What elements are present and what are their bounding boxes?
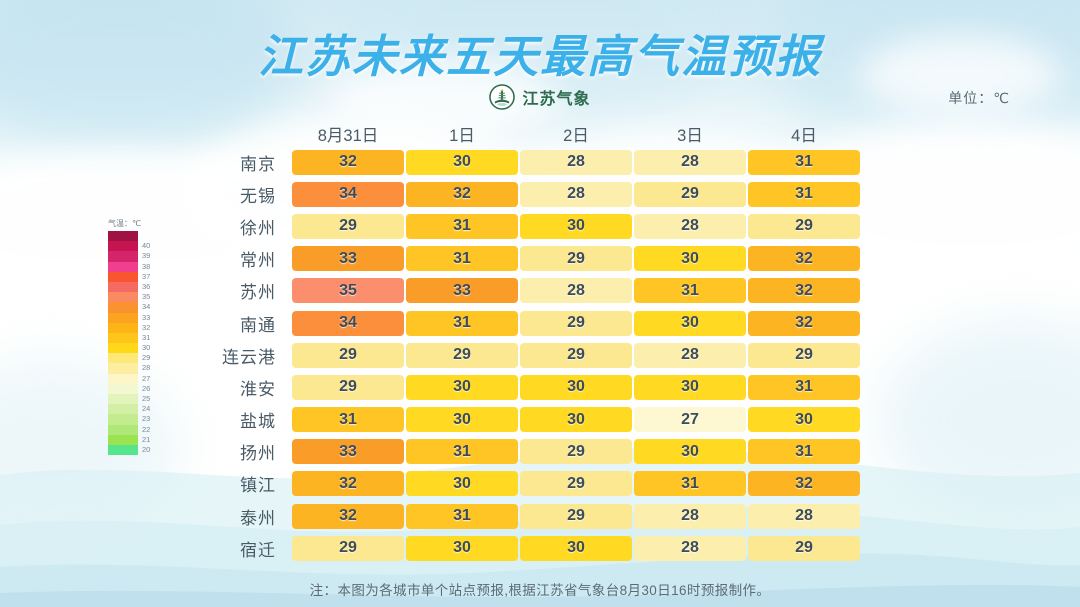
legend-label: 31 xyxy=(142,333,150,343)
legend-swatch xyxy=(108,343,138,353)
row-city-label: 盐城 xyxy=(196,407,292,432)
temperature-cell: 32 xyxy=(406,182,518,207)
table-row: 南通3431293032 xyxy=(0,307,1080,339)
legend-swatch xyxy=(108,272,138,282)
row-city-label: 镇江 xyxy=(196,471,292,496)
weather-bureau-emblem-icon xyxy=(489,84,515,110)
temperature-cell: 31 xyxy=(406,214,518,239)
legend-stop: 39 xyxy=(108,251,150,261)
legend-stop: 38 xyxy=(108,262,150,272)
legend-stop: 35 xyxy=(108,292,150,302)
table-row: 宿迁2930302829 xyxy=(0,532,1080,564)
column-header-day: 1日 xyxy=(406,122,518,146)
legend-stop: 32 xyxy=(108,323,150,333)
legend-stop: 22 xyxy=(108,425,150,435)
column-header-day: 2日 xyxy=(520,122,632,146)
legend-label: 32 xyxy=(142,323,150,333)
forecast-table: 8月31日1日2日3日4日 南京3230282831无锡3432282931徐州… xyxy=(0,118,1080,564)
legend-label: 26 xyxy=(142,384,150,394)
temperature-cell: 30 xyxy=(520,375,632,400)
temperature-cell: 32 xyxy=(292,504,404,529)
temperature-cell: 30 xyxy=(520,536,632,561)
unit-label: 单位：℃ xyxy=(948,88,1010,108)
legend-swatch xyxy=(108,374,138,384)
legend-stop: 36 xyxy=(108,282,150,292)
temperature-cell: 31 xyxy=(406,504,518,529)
legend-label: 25 xyxy=(142,394,150,404)
row-city-label: 无锡 xyxy=(196,182,292,207)
temperature-cell: 30 xyxy=(406,536,518,561)
temperature-cell: 31 xyxy=(634,471,746,496)
legend-swatch xyxy=(108,435,138,445)
row-city-label: 淮安 xyxy=(196,375,292,400)
temperature-cell: 28 xyxy=(634,150,746,175)
legend-swatch xyxy=(108,282,138,292)
temperature-cell: 31 xyxy=(748,439,860,464)
table-row: 盐城3130302730 xyxy=(0,404,1080,436)
table-row: 南京3230282831 xyxy=(0,146,1080,178)
temperature-cell: 28 xyxy=(748,504,860,529)
temperature-cell: 31 xyxy=(748,375,860,400)
row-city-label: 扬州 xyxy=(196,439,292,464)
legend-swatch xyxy=(108,414,138,424)
temperature-cell: 31 xyxy=(634,278,746,303)
legend-stop: 20 xyxy=(108,445,150,455)
temperature-cell: 31 xyxy=(406,246,518,271)
temperature-cell: 28 xyxy=(520,150,632,175)
temperature-cell: 29 xyxy=(634,182,746,207)
legend-scale: 4039383736353433323130292827262524232221… xyxy=(108,231,150,455)
table-row: 苏州3533283132 xyxy=(0,275,1080,307)
temperature-cell: 28 xyxy=(520,278,632,303)
temperature-cell: 29 xyxy=(520,343,632,368)
temperature-cell: 30 xyxy=(406,375,518,400)
temperature-cell: 28 xyxy=(634,536,746,561)
temperature-legend: 气温：℃ 40393837363534333231302928272625242… xyxy=(108,218,150,455)
legend-stop: 25 xyxy=(108,394,150,404)
legend-stop: 29 xyxy=(108,353,150,363)
legend-label: 36 xyxy=(142,282,150,292)
table-body: 南京3230282831无锡3432282931徐州2931302829常州33… xyxy=(0,146,1080,564)
temperature-cell: 30 xyxy=(634,439,746,464)
legend-label: 27 xyxy=(142,374,150,384)
legend-label: 24 xyxy=(142,404,150,414)
temperature-cell: 29 xyxy=(292,214,404,239)
legend-label: 23 xyxy=(142,414,150,424)
temperature-cell: 30 xyxy=(520,407,632,432)
row-city-label: 南通 xyxy=(196,311,292,336)
temperature-cell: 30 xyxy=(634,246,746,271)
legend-label: 29 xyxy=(142,353,150,363)
temperature-cell: 31 xyxy=(406,439,518,464)
temperature-cell: 29 xyxy=(748,214,860,239)
temperature-cell: 30 xyxy=(634,375,746,400)
legend-title: 气温：℃ xyxy=(108,218,150,229)
legend-stop: 33 xyxy=(108,313,150,323)
legend-stop: 34 xyxy=(108,302,150,312)
temperature-cell: 29 xyxy=(520,504,632,529)
legend-stop: 23 xyxy=(108,414,150,424)
legend-label: 39 xyxy=(142,251,150,261)
temperature-cell: 31 xyxy=(748,150,860,175)
legend-label: 21 xyxy=(142,435,150,445)
temperature-cell: 28 xyxy=(634,504,746,529)
legend-label: 28 xyxy=(142,363,150,373)
legend-stop: 24 xyxy=(108,404,150,414)
temperature-cell: 33 xyxy=(292,439,404,464)
legend-swatch xyxy=(108,241,138,251)
row-city-label: 泰州 xyxy=(196,504,292,529)
legend-swatch xyxy=(108,292,138,302)
legend-swatch xyxy=(108,394,138,404)
temperature-cell: 32 xyxy=(748,471,860,496)
temperature-cell: 32 xyxy=(748,246,860,271)
row-city-label: 常州 xyxy=(196,246,292,271)
table-row: 镇江3230293132 xyxy=(0,468,1080,500)
legend-label: 40 xyxy=(142,241,150,251)
legend-label: 30 xyxy=(142,343,150,353)
temperature-cell: 33 xyxy=(406,278,518,303)
legend-swatch xyxy=(108,313,138,323)
temperature-cell: 32 xyxy=(748,311,860,336)
temperature-cell: 31 xyxy=(292,407,404,432)
temperature-cell: 34 xyxy=(292,311,404,336)
legend-swatch xyxy=(108,333,138,343)
table-row: 扬州3331293031 xyxy=(0,436,1080,468)
brand-row: 江苏气象 xyxy=(0,84,1080,115)
temperature-cell: 31 xyxy=(406,311,518,336)
page-title: 江苏未来五天最高气温预报 xyxy=(0,20,1080,85)
legend-label: 22 xyxy=(142,425,150,435)
temperature-cell: 29 xyxy=(748,343,860,368)
row-city-label: 南京 xyxy=(196,150,292,175)
temperature-cell: 29 xyxy=(292,343,404,368)
legend-swatch xyxy=(108,425,138,435)
legend-swatch xyxy=(108,353,138,363)
table-row: 连云港2929292829 xyxy=(0,339,1080,371)
legend-label: 34 xyxy=(142,302,150,312)
column-header-day: 8月31日 xyxy=(292,122,404,146)
legend-label: 33 xyxy=(142,313,150,323)
temperature-cell: 29 xyxy=(748,536,860,561)
temperature-cell: 29 xyxy=(406,343,518,368)
legend-stop: 40 xyxy=(108,241,150,251)
table-row: 常州3331293032 xyxy=(0,243,1080,275)
legend-stop: 26 xyxy=(108,384,150,394)
legend-swatch xyxy=(108,445,138,455)
legend-swatch xyxy=(108,404,138,414)
legend-stop xyxy=(108,231,150,241)
footer-note: 注：本图为各城市单个站点预报,根据江苏省气象台8月30日16时预报制作。 xyxy=(0,579,1080,599)
temperature-cell: 35 xyxy=(292,278,404,303)
temperature-cell: 29 xyxy=(520,471,632,496)
temperature-cell: 32 xyxy=(748,278,860,303)
temperature-cell: 30 xyxy=(748,407,860,432)
temperature-cell: 30 xyxy=(634,311,746,336)
legend-swatch xyxy=(108,231,138,241)
legend-swatch xyxy=(108,323,138,333)
temperature-cell: 28 xyxy=(634,343,746,368)
temperature-cell: 29 xyxy=(292,536,404,561)
page-title-text: 江苏未来五天最高气温预报 xyxy=(258,20,822,85)
temperature-cell: 28 xyxy=(634,214,746,239)
temperature-cell: 30 xyxy=(520,214,632,239)
legend-swatch xyxy=(108,363,138,373)
temperature-cell: 30 xyxy=(406,471,518,496)
legend-swatch xyxy=(108,384,138,394)
temperature-cell: 29 xyxy=(292,375,404,400)
temperature-cell: 33 xyxy=(292,246,404,271)
row-city-label: 徐州 xyxy=(196,214,292,239)
temperature-cell: 30 xyxy=(406,150,518,175)
legend-stop: 31 xyxy=(108,333,150,343)
temperature-cell: 31 xyxy=(748,182,860,207)
legend-label: 38 xyxy=(142,262,150,272)
temperature-cell: 32 xyxy=(292,150,404,175)
temperature-cell: 29 xyxy=(520,439,632,464)
column-header-day: 4日 xyxy=(748,122,860,146)
row-city-label: 连云港 xyxy=(196,343,292,368)
legend-label: 20 xyxy=(142,445,150,455)
temperature-cell: 29 xyxy=(520,311,632,336)
legend-stop: 27 xyxy=(108,374,150,384)
column-header-day: 3日 xyxy=(634,122,746,146)
legend-swatch xyxy=(108,262,138,272)
table-row: 泰州3231292828 xyxy=(0,500,1080,532)
row-city-label: 苏州 xyxy=(196,278,292,303)
legend-label: 35 xyxy=(142,292,150,302)
temperature-cell: 32 xyxy=(292,471,404,496)
table-row: 徐州2931302829 xyxy=(0,210,1080,242)
legend-label: 37 xyxy=(142,272,150,282)
row-city-label: 宿迁 xyxy=(196,536,292,561)
legend-stop: 28 xyxy=(108,363,150,373)
temperature-cell: 28 xyxy=(520,182,632,207)
temperature-cell: 29 xyxy=(520,246,632,271)
legend-swatch xyxy=(108,302,138,312)
brand-logo: 江苏气象 xyxy=(489,84,590,110)
table-row: 无锡3432282931 xyxy=(0,178,1080,210)
legend-stop: 30 xyxy=(108,343,150,353)
table-header-row: 8月31日1日2日3日4日 xyxy=(0,118,1080,146)
brand-name: 江苏气象 xyxy=(522,85,590,109)
legend-swatch xyxy=(108,251,138,261)
legend-stop: 21 xyxy=(108,435,150,445)
legend-stop: 37 xyxy=(108,272,150,282)
table-row: 淮安2930303031 xyxy=(0,371,1080,403)
temperature-cell: 30 xyxy=(406,407,518,432)
temperature-cell: 34 xyxy=(292,182,404,207)
temperature-cell: 27 xyxy=(634,407,746,432)
